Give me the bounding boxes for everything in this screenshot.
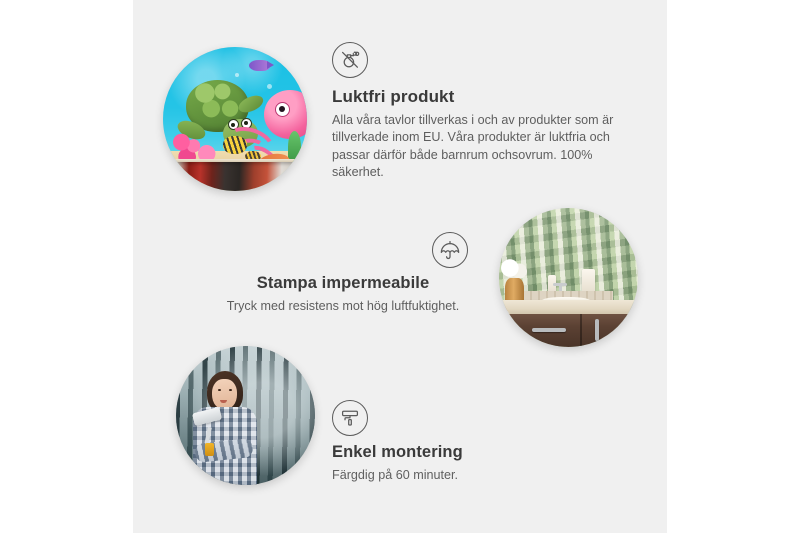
feature-body: Alla våra tavlor tillverkas i och av pro… bbox=[332, 112, 624, 182]
feature-body: Färgdig på 60 minuter. bbox=[332, 467, 572, 484]
bubble-icon bbox=[235, 73, 239, 77]
icon-wrap bbox=[218, 232, 468, 268]
door-handle bbox=[595, 319, 599, 341]
woman-eye bbox=[218, 389, 221, 391]
paint-roller-icon bbox=[332, 400, 368, 436]
wallpaper-roll-strip bbox=[163, 162, 307, 191]
promo-feature-graphic: Luktfri produkt Alla våra tavlor tillver… bbox=[0, 0, 800, 533]
yellow-fish bbox=[223, 136, 246, 153]
feature-waterproof-print: Stampa impermeabile Tryck med resistens … bbox=[218, 232, 468, 315]
feature-easy-mounting: Enkel montering Färgdig på 60 minuter. bbox=[332, 400, 572, 484]
vanity-seam bbox=[580, 314, 582, 347]
no-odour-perfume-icon bbox=[332, 42, 368, 78]
photo-bathroom-tropical-leaf-wallpaper bbox=[499, 208, 638, 347]
purple-fish bbox=[249, 60, 269, 72]
woman-face bbox=[212, 379, 237, 410]
photo-underwater-nursery-mural bbox=[163, 47, 307, 191]
icon-wrap bbox=[332, 42, 624, 78]
feature-title: Enkel montering bbox=[332, 443, 572, 462]
wooden-vanity bbox=[499, 314, 638, 347]
feature-title: Stampa impermeabile bbox=[218, 274, 468, 293]
octopus-eye bbox=[275, 102, 290, 117]
tool-grip bbox=[205, 443, 213, 456]
feature-odour-free: Luktfri produkt Alla våra tavlor tillver… bbox=[332, 42, 624, 182]
photo-woman-with-paint-roller-forest-mural bbox=[176, 346, 315, 485]
icon-wrap bbox=[332, 400, 572, 436]
feature-body: Tryck med resistens mot hög luftfuktighe… bbox=[218, 298, 468, 315]
feature-title: Luktfri produkt bbox=[332, 87, 624, 107]
seaweed bbox=[288, 131, 301, 163]
umbrella-icon bbox=[432, 232, 468, 268]
woman-eye bbox=[229, 389, 232, 391]
drawer-handle bbox=[532, 328, 565, 332]
